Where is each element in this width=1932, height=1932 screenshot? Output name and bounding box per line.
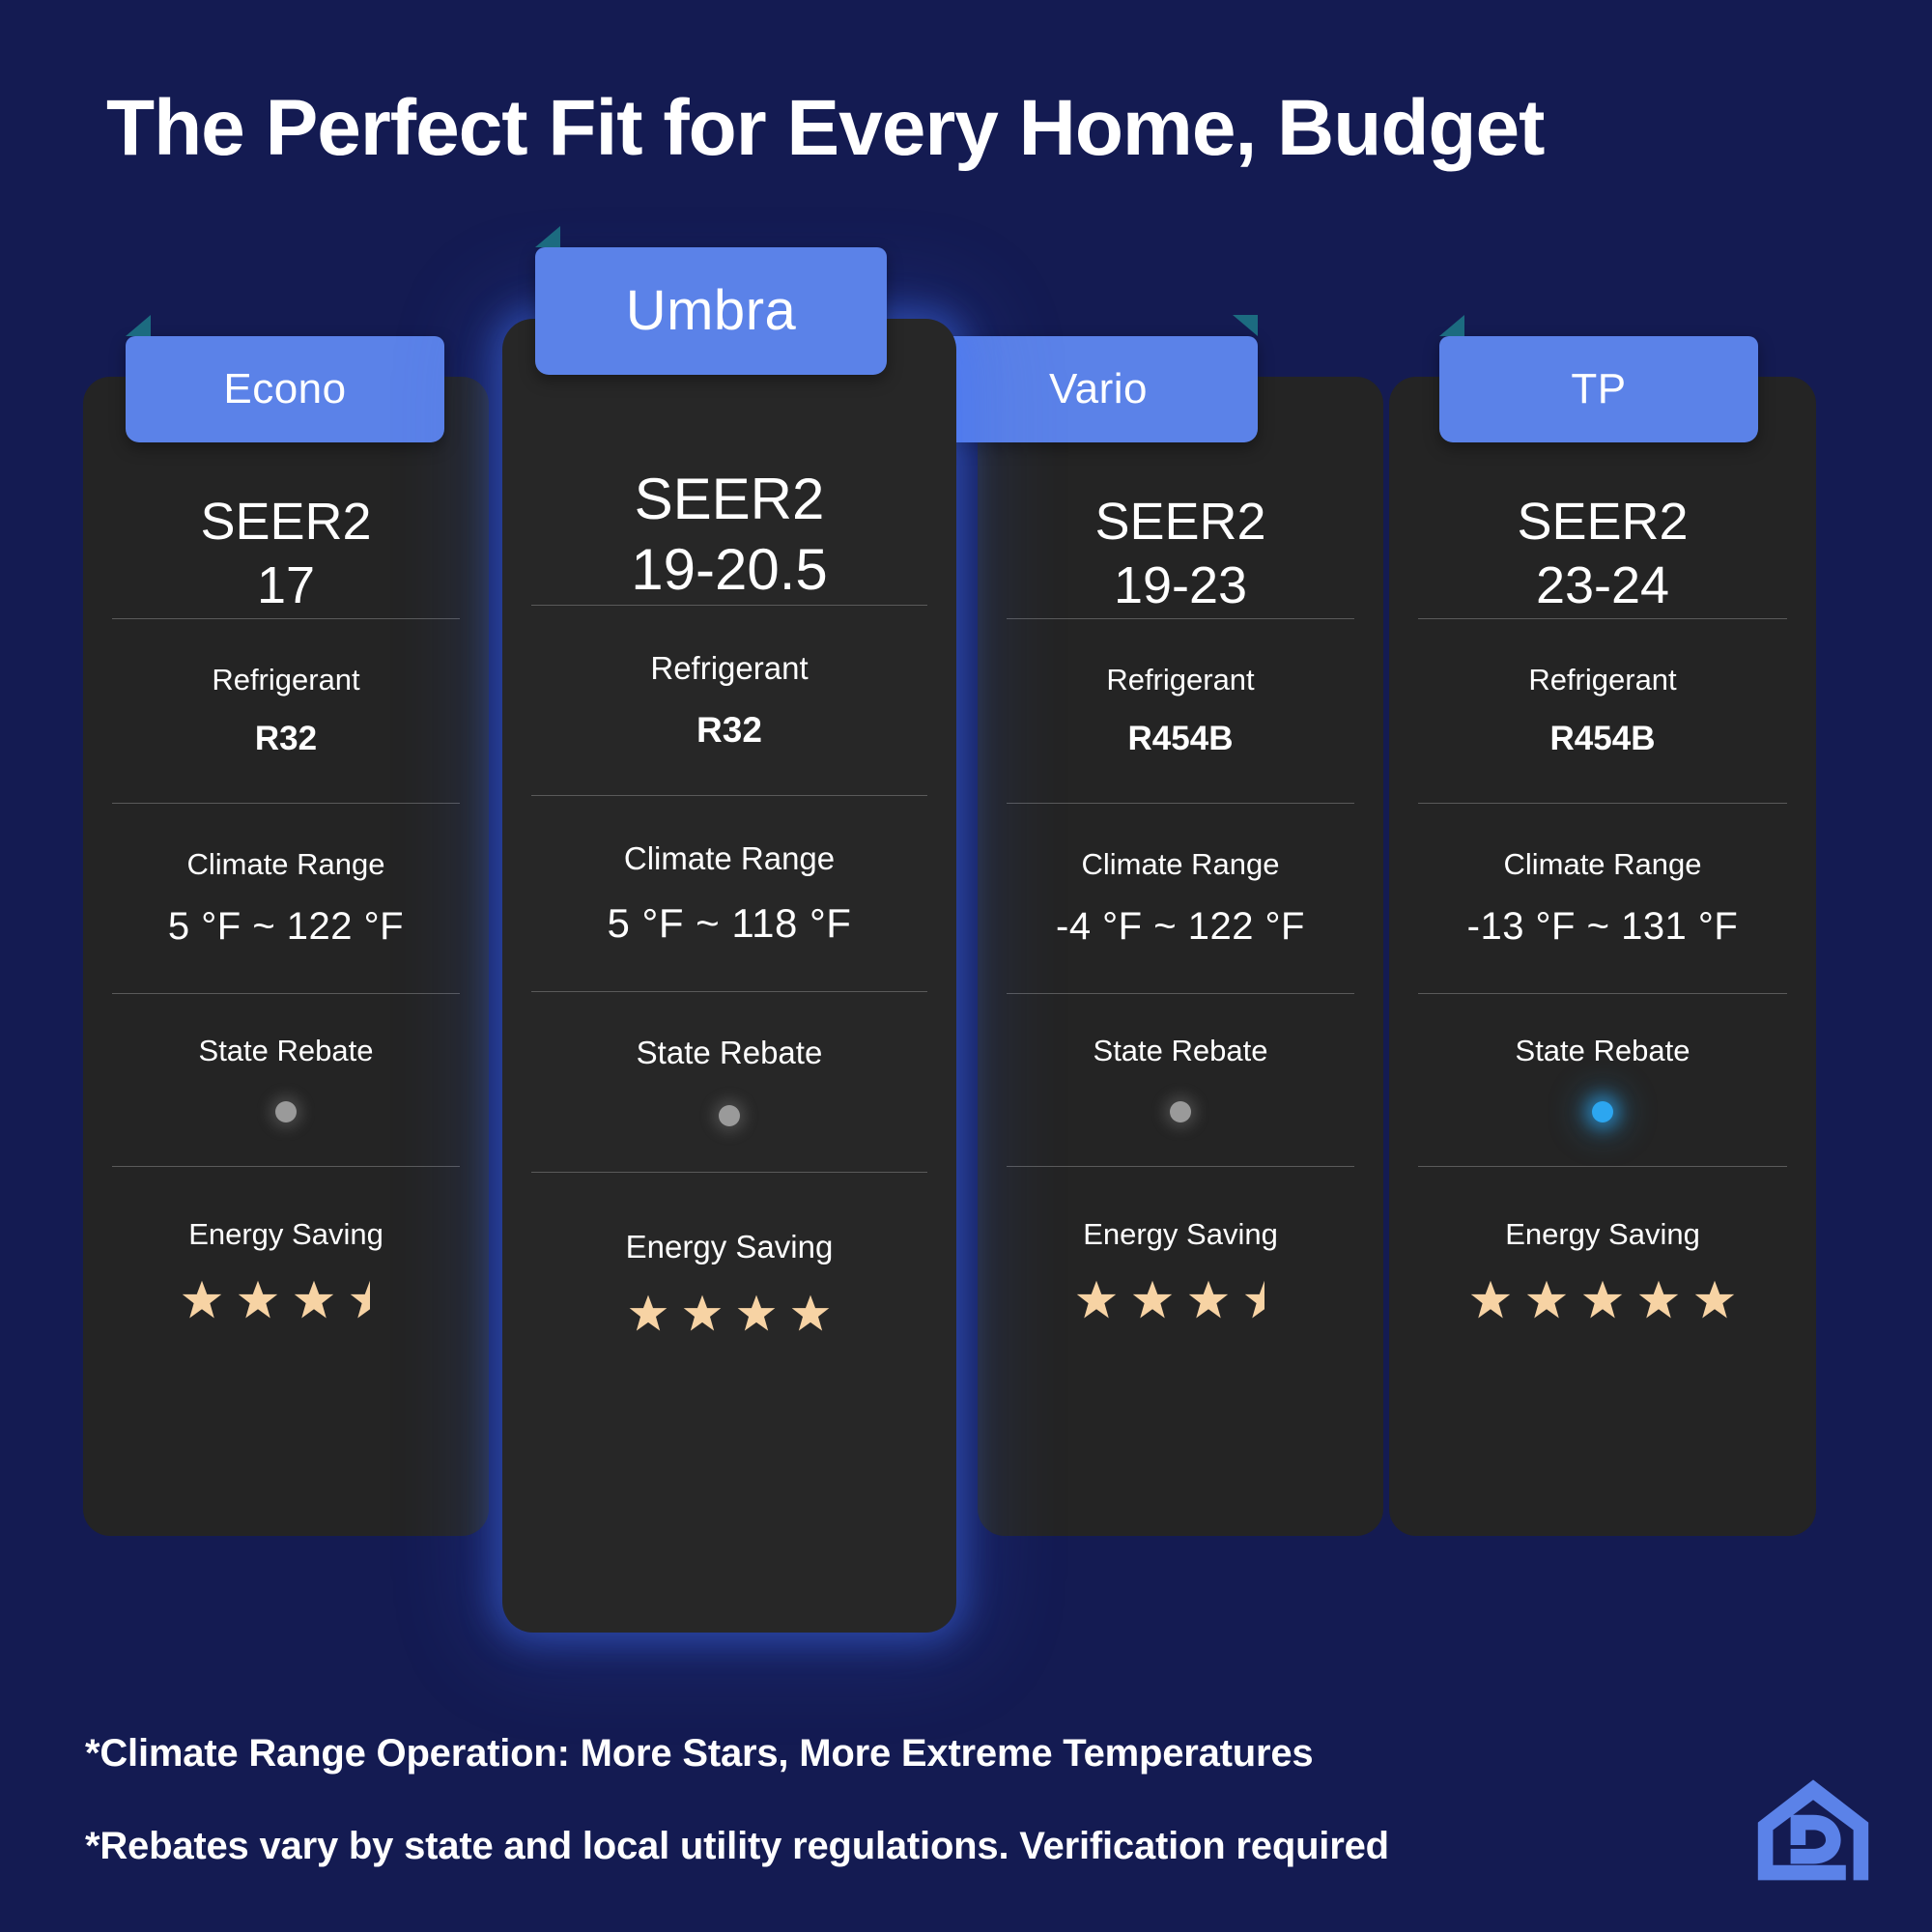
star-icon — [736, 1293, 777, 1334]
state-rebate-label: State Rebate — [637, 1033, 823, 1074]
star-icon — [1581, 1279, 1624, 1321]
star-icon — [1525, 1279, 1568, 1321]
card-ribbon-vario: Vario — [939, 336, 1258, 442]
half-star-icon — [349, 1279, 391, 1321]
seer-label: SEER2 — [527, 464, 931, 534]
energy-saving-row: Energy Saving — [1003, 1167, 1358, 1370]
state-rebate-row: State Rebate — [1003, 994, 1358, 1166]
refrigerant-label: Refrigerant — [212, 661, 359, 699]
product-card-econo[interactable]: Econo SEER2 17 Refrigerant R32 Climate R… — [83, 377, 489, 1536]
ribbon-fold-icon — [1233, 315, 1258, 336]
footnotes: *Climate Range Operation: More Stars, Mo… — [85, 1729, 1727, 1915]
rebate-status-dot-icon — [275, 1101, 297, 1122]
seer-block: SEER2 19-23 — [1003, 491, 1358, 618]
energy-saving-row: Energy Saving — [1414, 1167, 1791, 1370]
energy-saving-stars — [181, 1279, 391, 1321]
climate-range-row: Climate Range -13 °F ~ 131 °F — [1414, 804, 1791, 993]
seer-label: SEER2 — [1414, 491, 1791, 554]
seer-value: 17 — [108, 554, 464, 618]
energy-saving-label: Energy Saving — [1505, 1215, 1700, 1254]
ribbon-fold-icon — [1439, 315, 1464, 336]
energy-saving-stars — [628, 1293, 831, 1334]
refrigerant-row: Refrigerant R32 — [108, 619, 464, 803]
refrigerant-value: R32 — [696, 707, 762, 753]
climate-range-label: Climate Range — [1081, 845, 1279, 884]
climate-range-value: -13 °F ~ 131 °F — [1467, 901, 1739, 952]
rebate-status-dot-icon — [719, 1105, 740, 1126]
ribbon-fold-icon — [535, 226, 560, 247]
product-card-vario[interactable]: Vario SEER2 19-23 Refrigerant R454B Clim… — [978, 377, 1383, 1536]
climate-range-row: Climate Range -4 °F ~ 122 °F — [1003, 804, 1358, 993]
seer-label: SEER2 — [108, 491, 464, 554]
seer-block: SEER2 19-20.5 — [527, 464, 931, 605]
refrigerant-value: R454B — [1128, 717, 1234, 761]
refrigerant-row: Refrigerant R454B — [1414, 619, 1791, 803]
footnote-rebates: *Rebates vary by state and local utility… — [85, 1822, 1727, 1870]
energy-saving-label: Energy Saving — [188, 1215, 384, 1254]
refrigerant-value: R454B — [1550, 717, 1656, 761]
climate-range-value: 5 °F ~ 118 °F — [608, 897, 852, 951]
state-rebate-label: State Rebate — [1516, 1032, 1690, 1070]
climate-range-value: -4 °F ~ 122 °F — [1056, 901, 1305, 952]
product-card-umbra[interactable]: Umbra SEER2 19-20.5 Refrigerant R32 Clim… — [502, 319, 956, 1633]
refrigerant-row: Refrigerant R454B — [1003, 619, 1358, 803]
refrigerant-row: Refrigerant R32 — [527, 606, 931, 795]
star-icon — [790, 1293, 831, 1334]
climate-range-row: Climate Range 5 °F ~ 118 °F — [527, 796, 931, 991]
card-ribbon-econo: Econo — [126, 336, 444, 442]
climate-range-label: Climate Range — [624, 838, 835, 880]
energy-saving-row: Energy Saving — [108, 1167, 464, 1370]
star-icon — [1187, 1279, 1230, 1321]
star-icon — [1637, 1279, 1680, 1321]
star-icon — [237, 1279, 279, 1321]
card-ribbon-label: Vario — [1049, 368, 1148, 411]
star-icon — [628, 1293, 668, 1334]
energy-saving-row: Energy Saving — [527, 1173, 931, 1387]
refrigerant-label: Refrigerant — [1528, 661, 1676, 699]
seer-value: 23-24 — [1414, 554, 1791, 618]
star-icon — [1693, 1279, 1736, 1321]
product-card-row: Econo SEER2 17 Refrigerant R32 Climate R… — [83, 319, 1861, 1594]
climate-range-label: Climate Range — [186, 845, 384, 884]
seer-value: 19-23 — [1003, 554, 1358, 618]
page-title: The Perfect Fit for Every Home, Budget — [106, 89, 1845, 168]
state-rebate-label: State Rebate — [1094, 1032, 1268, 1070]
refrigerant-label: Refrigerant — [650, 648, 808, 690]
seer-value: 19-20.5 — [527, 534, 931, 605]
state-rebate-row: State Rebate — [1414, 994, 1791, 1166]
card-ribbon-umbra: Umbra — [535, 247, 887, 375]
half-star-icon — [1243, 1279, 1286, 1321]
product-card-tp[interactable]: TP SEER2 23-24 Refrigerant R454B Climate… — [1389, 377, 1816, 1536]
energy-saving-stars — [1075, 1279, 1286, 1321]
star-icon — [1131, 1279, 1174, 1321]
rebate-status-dot-icon — [1170, 1101, 1191, 1122]
star-icon — [1469, 1279, 1512, 1321]
rebate-status-dot-icon — [1592, 1101, 1613, 1122]
state-rebate-label: State Rebate — [199, 1032, 374, 1070]
climate-range-label: Climate Range — [1503, 845, 1701, 884]
ribbon-fold-icon — [126, 315, 151, 336]
card-ribbon-label: TP — [1571, 368, 1626, 411]
star-icon — [293, 1279, 335, 1321]
card-ribbon-label: Umbra — [626, 283, 797, 339]
seer-block: SEER2 23-24 — [1414, 491, 1791, 618]
card-ribbon-label: Econo — [223, 368, 346, 411]
energy-saving-label: Energy Saving — [626, 1227, 834, 1268]
state-rebate-row: State Rebate — [108, 994, 464, 1166]
infographic-root: The Perfect Fit for Every Home, Budget E… — [0, 0, 1932, 1932]
energy-saving-label: Energy Saving — [1083, 1215, 1278, 1254]
climate-range-value: 5 °F ~ 122 °F — [168, 901, 404, 952]
state-rebate-row: State Rebate — [527, 992, 931, 1172]
climate-range-row: Climate Range 5 °F ~ 122 °F — [108, 804, 464, 993]
seer-block: SEER2 17 — [108, 491, 464, 618]
star-icon — [682, 1293, 723, 1334]
energy-saving-stars — [1469, 1279, 1736, 1321]
refrigerant-value: R32 — [255, 717, 317, 761]
seer-label: SEER2 — [1003, 491, 1358, 554]
card-ribbon-tp: TP — [1439, 336, 1758, 442]
refrigerant-label: Refrigerant — [1106, 661, 1254, 699]
house-logo-icon — [1750, 1770, 1876, 1895]
star-icon — [181, 1279, 223, 1321]
footnote-climate-range: *Climate Range Operation: More Stars, Mo… — [85, 1729, 1727, 1777]
star-icon — [1075, 1279, 1118, 1321]
